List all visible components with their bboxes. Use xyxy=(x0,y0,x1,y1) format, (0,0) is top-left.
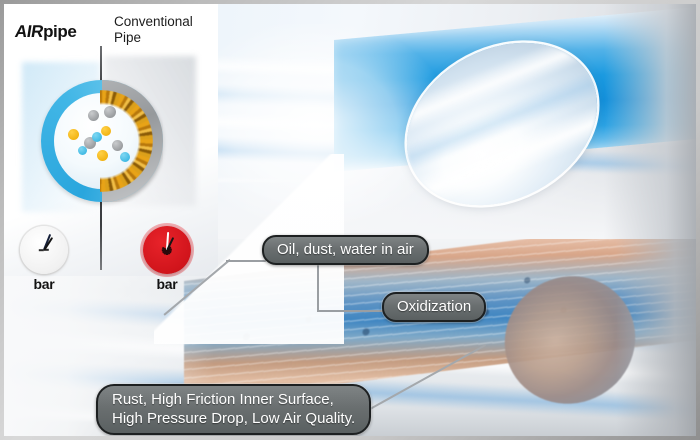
gauge-tick xyxy=(166,250,168,272)
gauge-dial-white xyxy=(20,226,68,274)
conventional-right-edge-fade xyxy=(616,239,696,436)
gauge-unit-label: bar xyxy=(14,276,74,292)
particle-cyan xyxy=(78,146,87,155)
leader-line-oil-dust-horizontal xyxy=(226,260,266,262)
particle-cyan xyxy=(120,152,130,162)
conventional-gauge: bar xyxy=(137,226,197,292)
particle-gray xyxy=(112,140,123,151)
airpipe-gauge: bar xyxy=(14,226,74,292)
particle-gray xyxy=(88,110,99,121)
callout-rust-summary[interactable]: Rust, High Friction Inner Surface, High … xyxy=(96,384,371,435)
leader-line-oxidization-horizontal xyxy=(317,310,385,312)
conventional-pipe-label: Conventional Pipe xyxy=(114,14,209,46)
pipe-cross-section-diagram xyxy=(41,80,163,202)
particle-yellow xyxy=(68,129,79,140)
callout-oil-dust-water[interactable]: Oil, dust, water in air xyxy=(262,235,429,265)
callout-oxidization[interactable]: Oxidization xyxy=(382,292,486,322)
airpipe-logo-pipe: pipe xyxy=(43,22,76,41)
gauge-unit-label: bar xyxy=(137,276,197,292)
gauge-dial-red xyxy=(143,226,191,274)
infographic-canvas: AIRpipe Conventional Pipe xyxy=(0,0,700,440)
particle-cyan xyxy=(92,132,102,142)
airpipe-logo-air: AIR xyxy=(13,22,44,42)
image-inner-canvas: AIRpipe Conventional Pipe xyxy=(4,4,696,436)
airpipe-logo: AIRpipe xyxy=(15,22,76,42)
airpipe-right-edge-fade xyxy=(604,4,696,239)
gauge-tick xyxy=(22,249,44,251)
particle-yellow xyxy=(101,126,111,136)
gauge-tick xyxy=(44,249,66,251)
leader-line-oxidization-vertical xyxy=(317,260,319,312)
particle-yellow xyxy=(97,150,108,161)
particle-gray xyxy=(104,106,116,118)
